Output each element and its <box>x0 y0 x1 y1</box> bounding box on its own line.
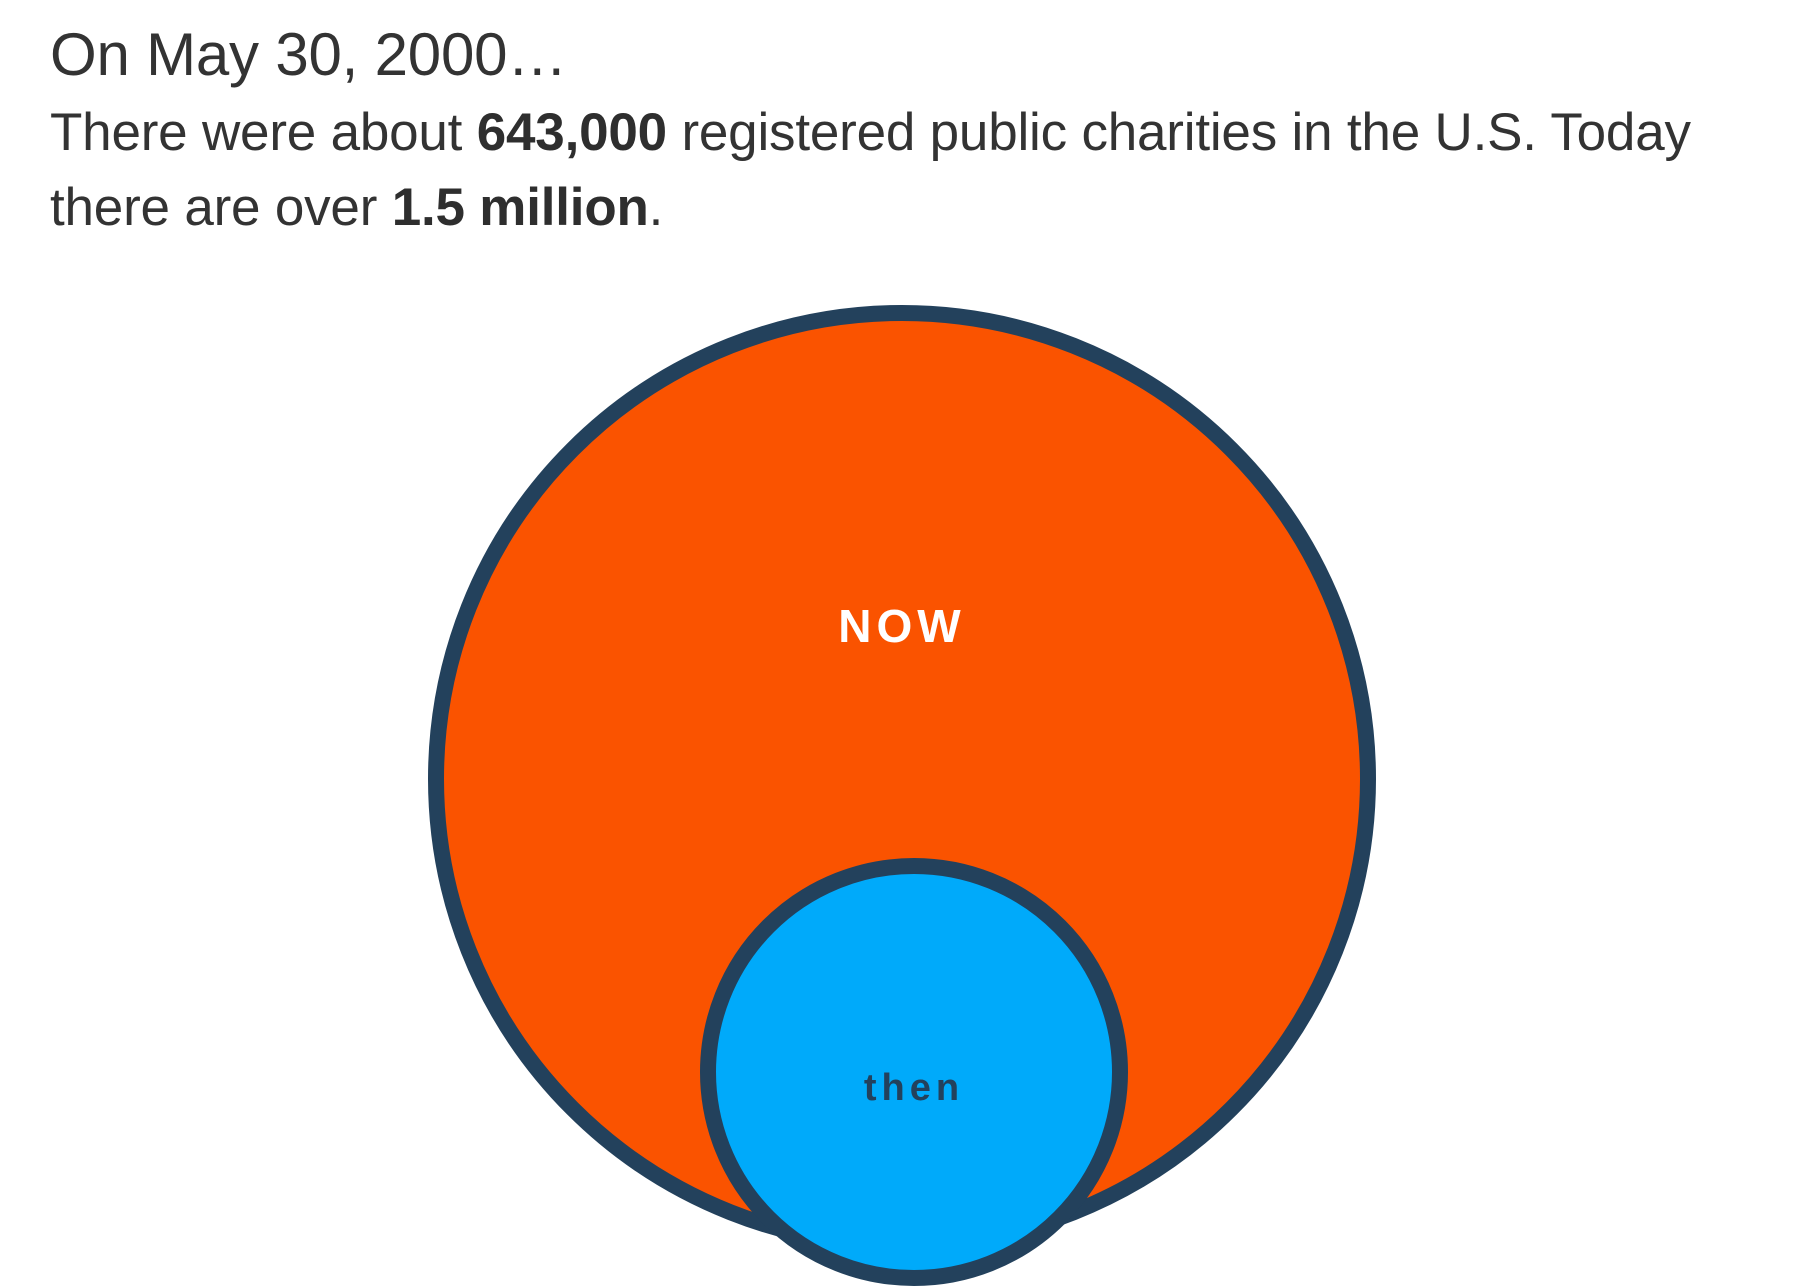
text-block: On May 30, 2000… There were about 643,00… <box>50 18 1770 246</box>
circle-now <box>436 313 1368 1245</box>
stat-then-value: 643,000 <box>477 103 667 162</box>
body-copy: There were about 643,000 registered publ… <box>50 95 1750 246</box>
infographic-canvas: On May 30, 2000… There were about 643,00… <box>0 0 1796 1287</box>
stat-now-value: 1.5 million <box>392 178 649 237</box>
body-text-part-1: There were about <box>50 103 477 162</box>
circle-label-now: NOW <box>838 600 965 652</box>
body-text-part-3: . <box>649 178 664 237</box>
page-title: On May 30, 2000… <box>50 18 1770 91</box>
circle-label-then: then <box>864 1067 964 1109</box>
circle-then <box>708 866 1120 1278</box>
